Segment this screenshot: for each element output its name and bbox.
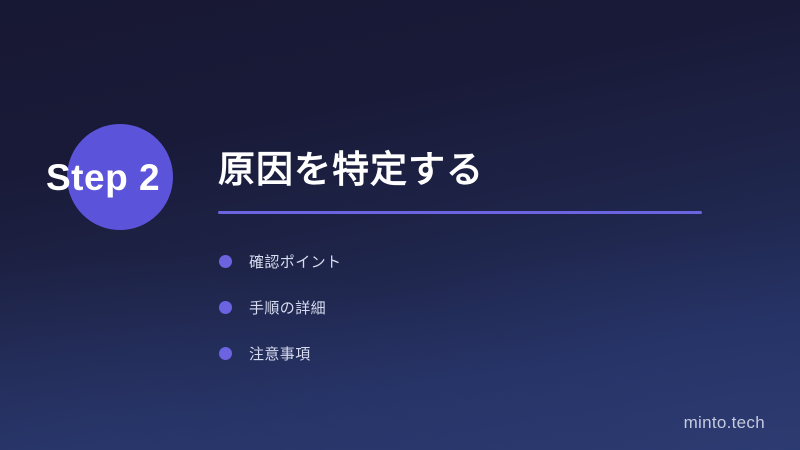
list-item: 確認ポイント bbox=[219, 238, 689, 284]
list-item: 手順の詳細 bbox=[219, 284, 689, 330]
slide-title: 原因を特定する bbox=[218, 146, 718, 194]
bullet-label: 注意事項 bbox=[249, 343, 311, 364]
footer-brand: minto.tech bbox=[684, 413, 765, 433]
heading-block: 原因を特定する bbox=[218, 146, 718, 194]
bullet-dot-icon bbox=[219, 255, 232, 268]
bullet-list: 確認ポイント 手順の詳細 注意事項 bbox=[219, 238, 689, 376]
bullet-label: 手順の詳細 bbox=[249, 297, 326, 318]
presentation-slide: Step 2 原因を特定する 確認ポイント 手順の詳細 注意事項 minto.t… bbox=[0, 0, 800, 450]
bullet-dot-icon bbox=[219, 301, 232, 314]
list-item: 注意事項 bbox=[219, 330, 689, 376]
bullet-dot-icon bbox=[219, 347, 232, 360]
title-divider bbox=[218, 211, 702, 214]
bullet-label: 確認ポイント bbox=[249, 251, 341, 272]
step-badge-label: Step 2 bbox=[46, 154, 236, 202]
